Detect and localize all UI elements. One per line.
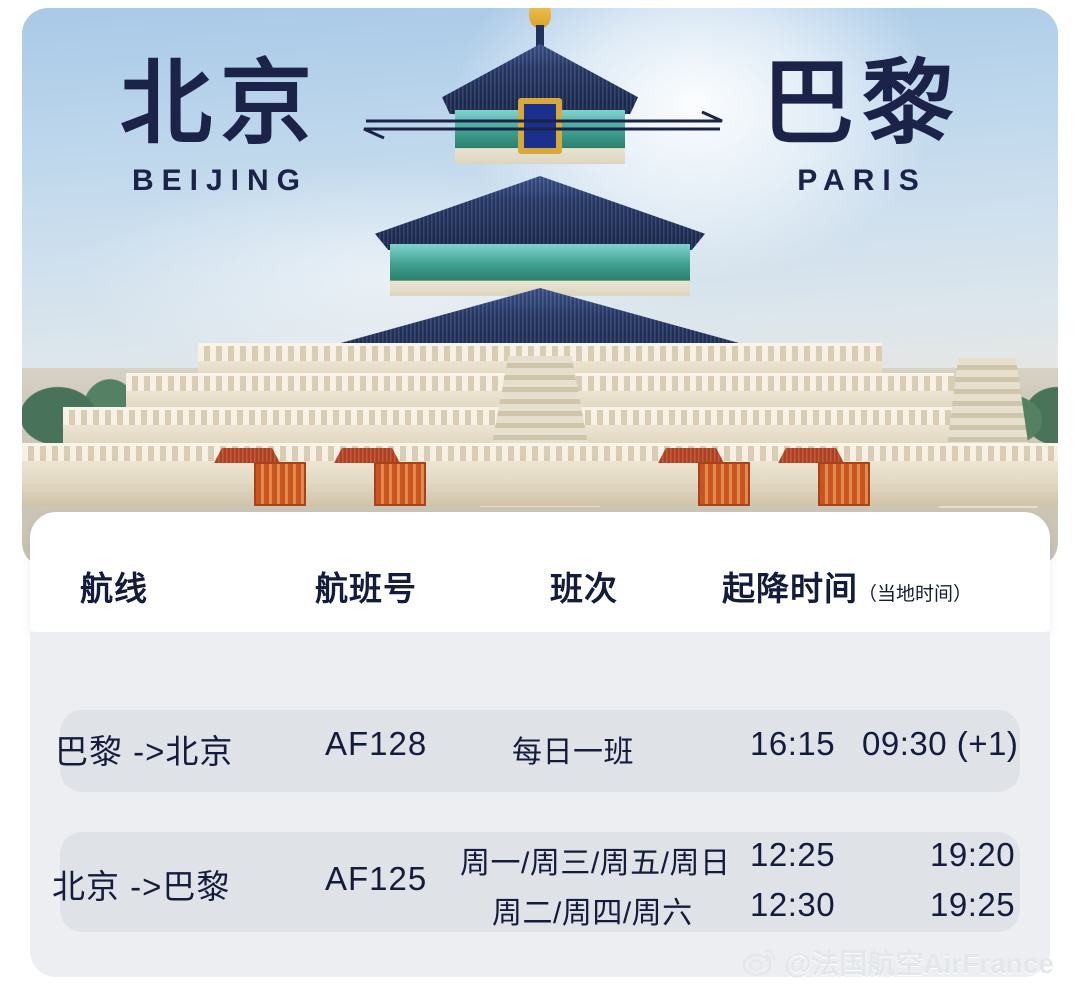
weibo-icon bbox=[743, 948, 777, 976]
kiosk-body bbox=[698, 462, 750, 506]
red-pavilion-kiosk bbox=[698, 448, 750, 506]
row-2-departure-a: 12:25 bbox=[750, 836, 835, 874]
origin-city: 北京 BEIJING bbox=[120, 58, 320, 198]
row-2-flight-no: AF125 bbox=[325, 860, 427, 898]
kiosk-roof bbox=[658, 448, 724, 463]
route-headline: 北京 BEIJING 巴黎 PARIS bbox=[0, 0, 1080, 260]
kiosk-body bbox=[254, 462, 306, 506]
watermark: @法国航空AirFrance bbox=[743, 942, 1054, 982]
table-header-card: 航线 航班号 班次 起降时间（当地时间） bbox=[30, 512, 1050, 632]
row-1-flight-no: AF128 bbox=[325, 725, 427, 763]
kiosk-body bbox=[818, 462, 870, 506]
destination-city-cn: 巴黎 bbox=[762, 58, 962, 150]
column-header-time-main: 起降时间 bbox=[722, 570, 858, 607]
kiosk-roof bbox=[334, 448, 400, 463]
destination-city-en: PARIS bbox=[762, 164, 962, 198]
column-header-time: 起降时间（当地时间） bbox=[722, 562, 972, 610]
row-2-route: 北京 ->巴黎 bbox=[52, 860, 230, 908]
row-1-departure: 16:15 bbox=[750, 725, 835, 763]
origin-city-en: BEIJING bbox=[120, 164, 320, 198]
kiosk-body bbox=[374, 462, 426, 506]
row-2-departure-b: 12:30 bbox=[750, 886, 835, 924]
row-2-arrival-a: 19:20 bbox=[930, 836, 1015, 874]
balustrade-1 bbox=[22, 443, 1058, 461]
destination-city: 巴黎 PARIS bbox=[762, 58, 962, 198]
red-pavilion-kiosk bbox=[374, 448, 426, 506]
column-header-frequency: 班次 bbox=[550, 562, 618, 610]
red-pavilion-kiosk bbox=[818, 448, 870, 506]
row-2-frequency-b: 周二/周四/周六 bbox=[492, 888, 693, 932]
marble-terrace-1 bbox=[22, 456, 1058, 506]
column-header-time-sub: （当地时间） bbox=[858, 584, 972, 605]
flight-schedule-poster: 北京 BEIJING 巴黎 PARIS 航线 航班号 班次 起降时间（当地时间）… bbox=[0, 0, 1080, 986]
double-headed-arrow-icon bbox=[358, 110, 728, 146]
column-header-route: 航线 bbox=[80, 562, 148, 610]
row-2-frequency-a: 周一/周三/周五/周日 bbox=[460, 838, 731, 882]
origin-city-cn: 北京 bbox=[120, 58, 320, 150]
row-1-frequency: 每日一班 bbox=[512, 727, 634, 771]
row-2-arrival-b: 19:25 bbox=[930, 886, 1015, 924]
column-header-flight-no: 航班号 bbox=[315, 562, 417, 610]
kiosk-roof bbox=[778, 448, 844, 463]
table-header-row: 航线 航班号 班次 起降时间（当地时间） bbox=[30, 512, 1050, 632]
red-pavilion-kiosk bbox=[254, 448, 306, 506]
row-1-arrival: 09:30 (+1) bbox=[862, 725, 1018, 763]
row-1-route: 巴黎 ->北京 bbox=[55, 725, 233, 773]
watermark-text: @法国航空AirFrance bbox=[784, 942, 1054, 982]
kiosk-roof bbox=[214, 448, 280, 463]
